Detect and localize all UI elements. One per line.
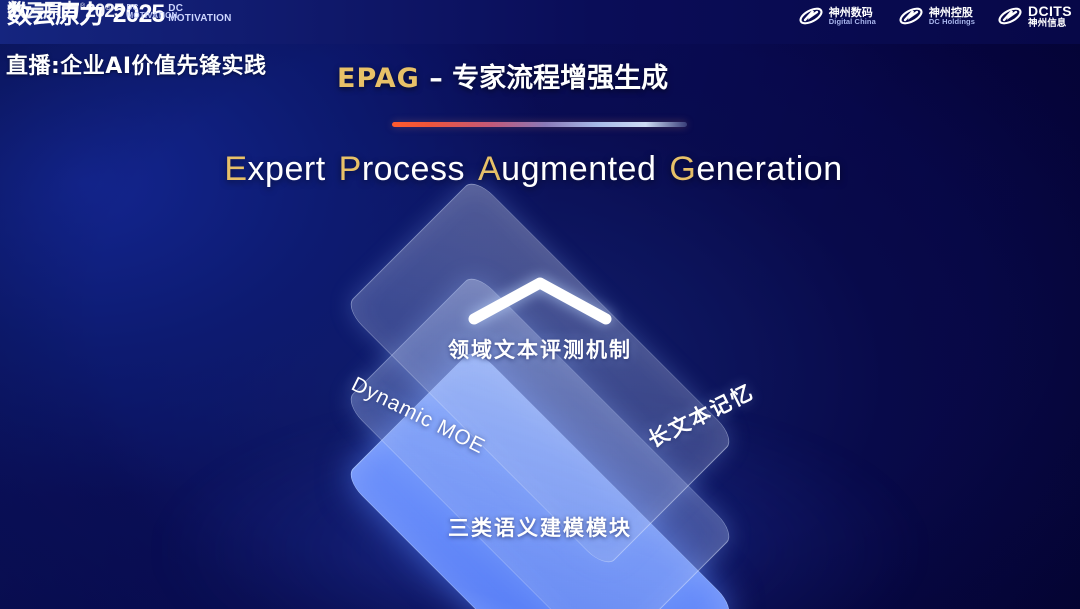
brand-dc-line2: MOTIVATION [126,12,177,20]
brand-dc-motivation: DC MOTIVATION [126,4,177,20]
brand-year: 2025 [85,2,123,21]
brand-logo-footer: 数云原力 ® 2025 DC MOTIVATION [7,2,1070,603]
brand-name-cn: 数云原力 [7,2,79,21]
